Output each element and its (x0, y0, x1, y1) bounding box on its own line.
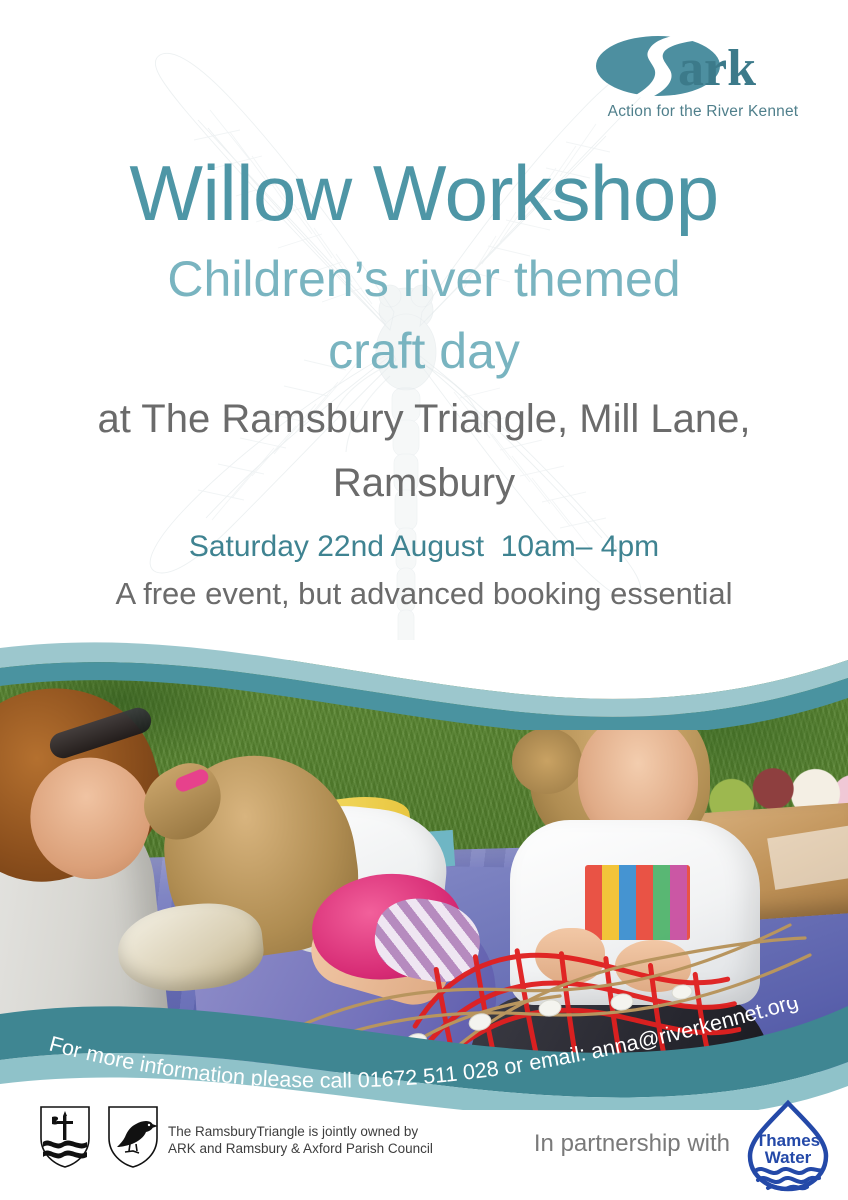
thames-water-logo-icon: Thames Water (740, 1098, 836, 1194)
photo-willow-withies (230, 910, 830, 1072)
event-photo (0, 660, 848, 1072)
partnership-label: In partnership with (534, 1130, 730, 1158)
ownership-line-2: ARK and Ramsbury & Axford Parish Council (168, 1140, 433, 1157)
ark-tagline: Action for the River Kennet (588, 103, 818, 121)
raven-shield-icon (106, 1104, 160, 1170)
footer: The RamsburyTriangle is jointly owned by… (0, 1090, 848, 1200)
page-title: Willow Workshop (18, 150, 830, 236)
owner-shields (38, 1104, 160, 1170)
svg-text:Water: Water (765, 1148, 812, 1167)
poster: ark Action for the River Kennet Willow W… (0, 0, 848, 1200)
ramsbury-parish-shield-icon (38, 1104, 92, 1170)
venue-line-1: at The Ramsbury Triangle, Mill Lane, (18, 394, 830, 444)
ownership-line-1: The RamsburyTriangle is jointly owned by (168, 1123, 433, 1140)
venue-line-2: Ramsbury (18, 458, 830, 508)
photo-content (0, 660, 848, 1072)
booking-note: A free event, but advanced booking essen… (18, 574, 830, 614)
ark-logo: ark Action for the River Kennet (588, 30, 818, 135)
subtitle-line-1: Children’s river themed (18, 250, 830, 308)
svg-text:ark: ark (678, 40, 756, 97)
ownership-note: The RamsburyTriangle is jointly owned by… (168, 1123, 433, 1157)
subtitle-line-2: craft day (18, 322, 830, 380)
ark-logo-mark-icon: ark (596, 30, 811, 102)
event-date-time: Saturday 22nd August 10am– 4pm (18, 528, 830, 566)
photo-child-right-bun (512, 728, 582, 794)
headline-block: Willow Workshop Children’s river themed … (0, 150, 848, 614)
